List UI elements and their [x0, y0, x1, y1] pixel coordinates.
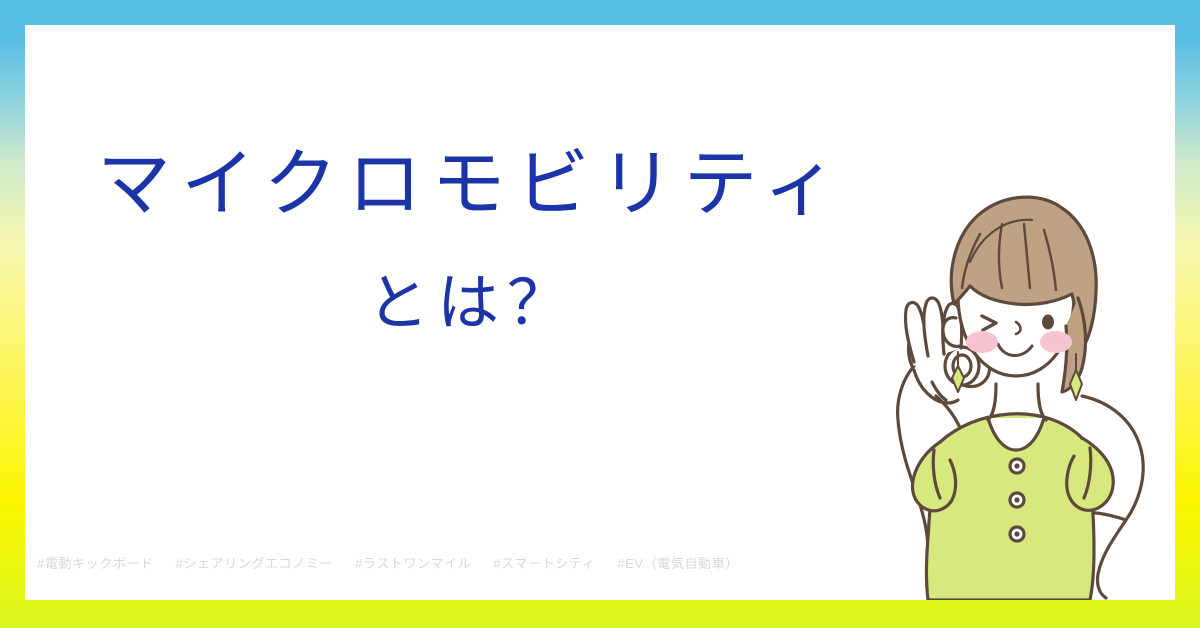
woman-illustration-svg	[810, 170, 1175, 600]
title-line-2: とは？	[25, 270, 905, 338]
hashtag-item: #EV（電気自動車）	[617, 553, 739, 572]
white-content-card: マイクロモビリティ とは？ #電動キックボード #シェアリングエコノミー #ラス…	[25, 25, 1175, 600]
banner-frame: マイクロモビリティ とは？ #電動キックボード #シェアリングエコノミー #ラス…	[0, 0, 1200, 628]
hashtag-item: #シェアリングエコノミー	[176, 553, 333, 572]
hashtag-item: #電動キックボード	[37, 553, 154, 572]
title-line-1: マイクロモビリティ	[25, 143, 905, 226]
hashtag-item: #スマートシティ	[493, 553, 595, 572]
page-title: マイクロモビリティ とは？	[25, 143, 905, 338]
hashtag-list: #電動キックボード #シェアリングエコノミー #ラストワンマイル #スマートシテ…	[37, 553, 739, 572]
hashtag-item: #ラストワンマイル	[355, 553, 471, 572]
woman-ok-gesture-illustration	[810, 170, 1175, 600]
